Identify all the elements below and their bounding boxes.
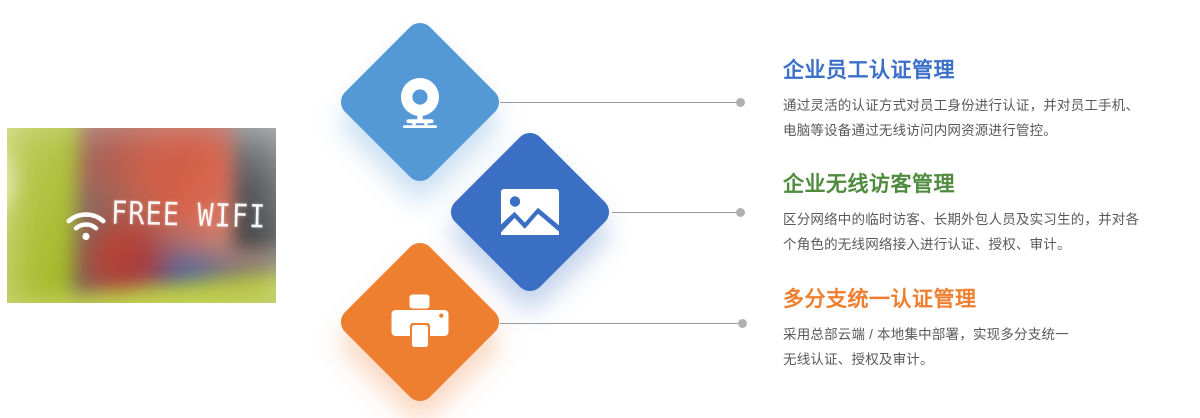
free-wifi-photo: FREE WIFI [7,128,276,303]
connector-line-1 [500,102,738,103]
photo-vignette [7,128,276,303]
feature-heading-1: 企业员工认证管理 [783,58,1187,83]
connector-dot-1 [736,98,745,107]
feature-body-2-line-2: 个角色的无线网络接入进行认证、授权、审计。 [783,237,1071,252]
feature-text-block-1: 企业员工认证管理 通过灵活的认证方式对员工身份进行认证，并对员工手机、 电脑等设… [783,58,1187,143]
feature-body-1-line-1: 通过灵活的认证方式对员工身份进行认证，并对员工手机、 [783,98,1139,113]
feature-showcase-panel: FREE WIFI [0,0,1200,418]
feature-body-2-line-1: 区分网络中的临时访客、长期外包人员及实习生的，并对各 [783,212,1139,227]
feature-body-2: 区分网络中的临时访客、长期外包人员及实习生的，并对各 个角色的无线网络接入进行认… [783,207,1187,257]
image-picture-icon [501,187,559,237]
webcam-icon [389,71,451,133]
feature-body-3: 采用总部云端 / 本地集中部署，实现多分支统一 无线认证、授权及审计。 [783,322,1187,372]
feature-body-1-line-2: 电脑等设备通过无线访问内网资源进行管控。 [783,123,1057,138]
connector-line-3 [500,323,740,324]
feature-body-1: 通过灵活的认证方式对员工身份进行认证，并对员工手机、 电脑等设备通过无线访问内网… [783,93,1187,143]
connector-dot-3 [738,319,747,328]
feature-body-3-line-2: 无线认证、授权及审计。 [783,352,934,367]
feature-icon-tile-1[interactable] [335,17,505,187]
connector-dot-2 [736,208,745,217]
feature-icon-tile-3[interactable] [335,237,505,407]
feature-heading-2: 企业无线访客管理 [783,172,1187,197]
feature-text-block-2: 企业无线访客管理 区分网络中的临时访客、长期外包人员及实习生的，并对各 个角色的… [783,172,1187,257]
feature-text-block-3: 多分支统一认证管理 采用总部云端 / 本地集中部署，实现多分支统一 无线认证、授… [783,287,1187,372]
feature-icon-tile-2[interactable] [445,127,615,297]
printer-icon [391,294,449,350]
connector-line-2 [612,212,738,213]
feature-body-3-line-1: 采用总部云端 / 本地集中部署，实现多分支统一 [783,327,1069,342]
feature-heading-3: 多分支统一认证管理 [783,287,1187,312]
